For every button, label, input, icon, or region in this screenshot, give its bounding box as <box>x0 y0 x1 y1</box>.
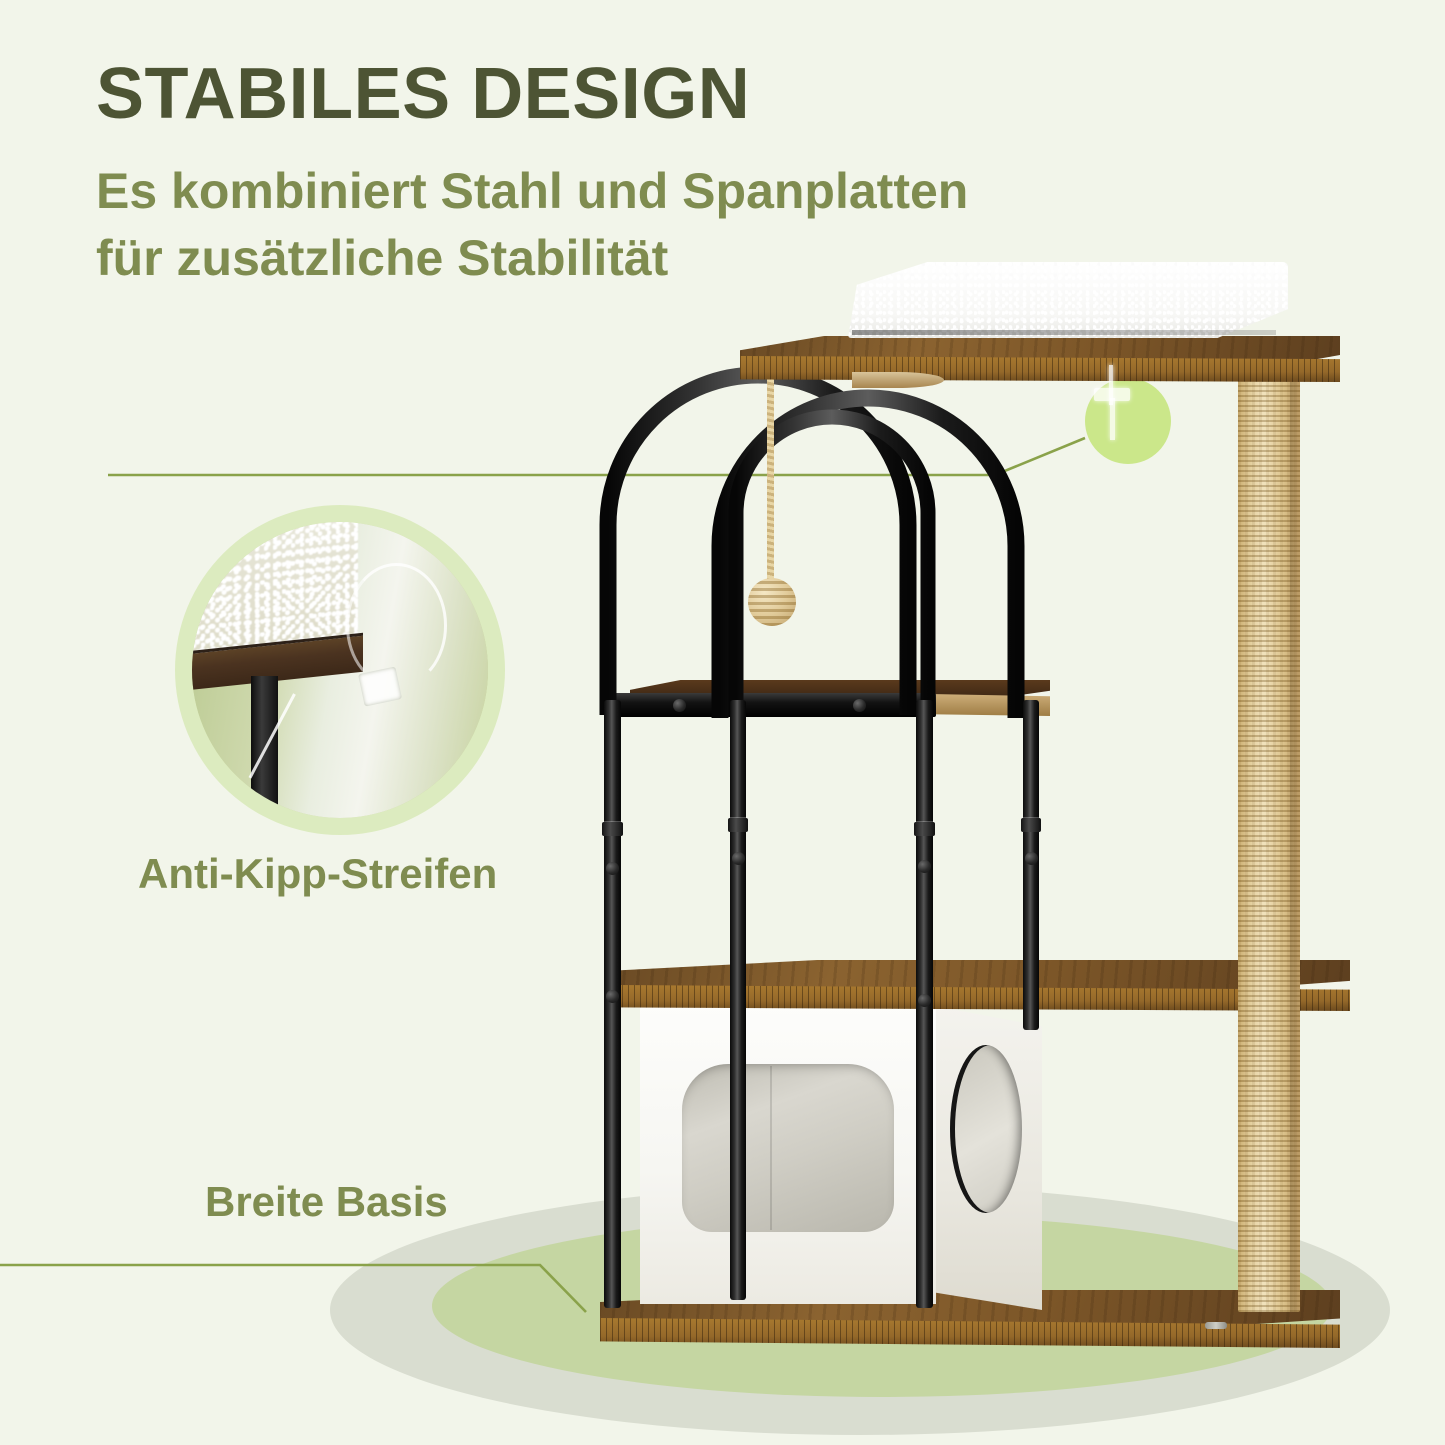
shelf-screw-mid <box>918 994 931 1007</box>
callout-label-wide-base: Breite Basis <box>205 1178 448 1226</box>
infographic-canvas: STABILES DESIGN Es kombiniert Stahl und … <box>0 0 1445 1445</box>
top-shelf-front-edge <box>740 356 1340 382</box>
detail-photo-anti-tip <box>192 522 488 818</box>
toy-rope <box>767 378 774 590</box>
leg-joint-rear-right <box>1021 818 1041 832</box>
leg-front-left <box>604 700 621 1308</box>
house-round-porthole <box>950 1045 1022 1213</box>
leg-screw-front-right <box>918 860 931 873</box>
page-title: STABILES DESIGN <box>96 58 750 130</box>
leg-rear-right <box>1023 700 1039 1030</box>
house-square-opening <box>682 1064 894 1232</box>
base-board-screw <box>1205 1322 1227 1329</box>
detail-callout-anti-tip <box>175 505 505 835</box>
plush-cushion-seam <box>852 330 1276 335</box>
detail-strap-loop <box>346 563 447 687</box>
leg-joint-front-mid <box>728 818 748 832</box>
shelf-screw-left <box>606 990 619 1003</box>
leg-joint-front-right <box>914 822 935 836</box>
top-shelf-mount-plate <box>852 372 944 388</box>
scratching-post-shadow <box>1290 362 1300 1312</box>
toy-sisal-ball <box>748 578 796 626</box>
house-interior-corner-shade <box>770 1066 772 1230</box>
arch-frame-small <box>722 395 952 715</box>
anti-tip-strap-tail <box>1110 398 1115 440</box>
leg-joint-front-left <box>602 822 623 836</box>
leg-screw-front-left <box>606 862 619 875</box>
plush-cushion <box>848 262 1288 338</box>
subtitle-line-1: Es kombiniert Stahl und Spanplatten <box>96 158 1156 225</box>
leg-screw-front-mid <box>732 852 745 865</box>
leg-screw-rear-right <box>1025 852 1038 865</box>
leg-front-mid <box>730 700 746 1300</box>
callout-label-anti-tip: Anti-Kipp-Streifen <box>138 850 497 898</box>
